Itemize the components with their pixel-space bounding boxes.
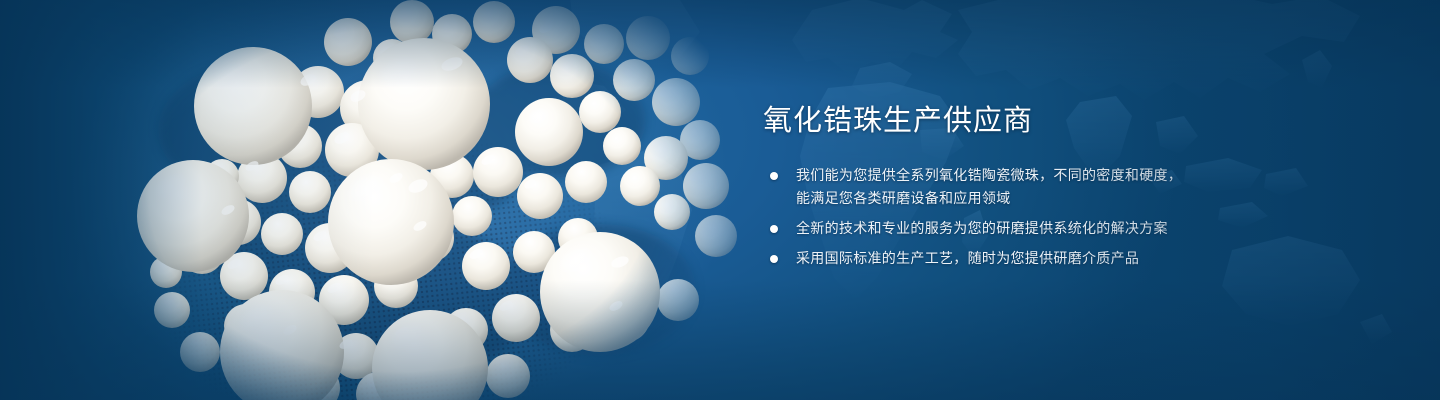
edge-vignette xyxy=(0,0,1440,400)
promo-banner: 氧化锆珠生产供应商 我们能为您提供全系列氧化锆陶瓷微珠，不同的密度和硬度， 能满… xyxy=(0,0,1440,400)
